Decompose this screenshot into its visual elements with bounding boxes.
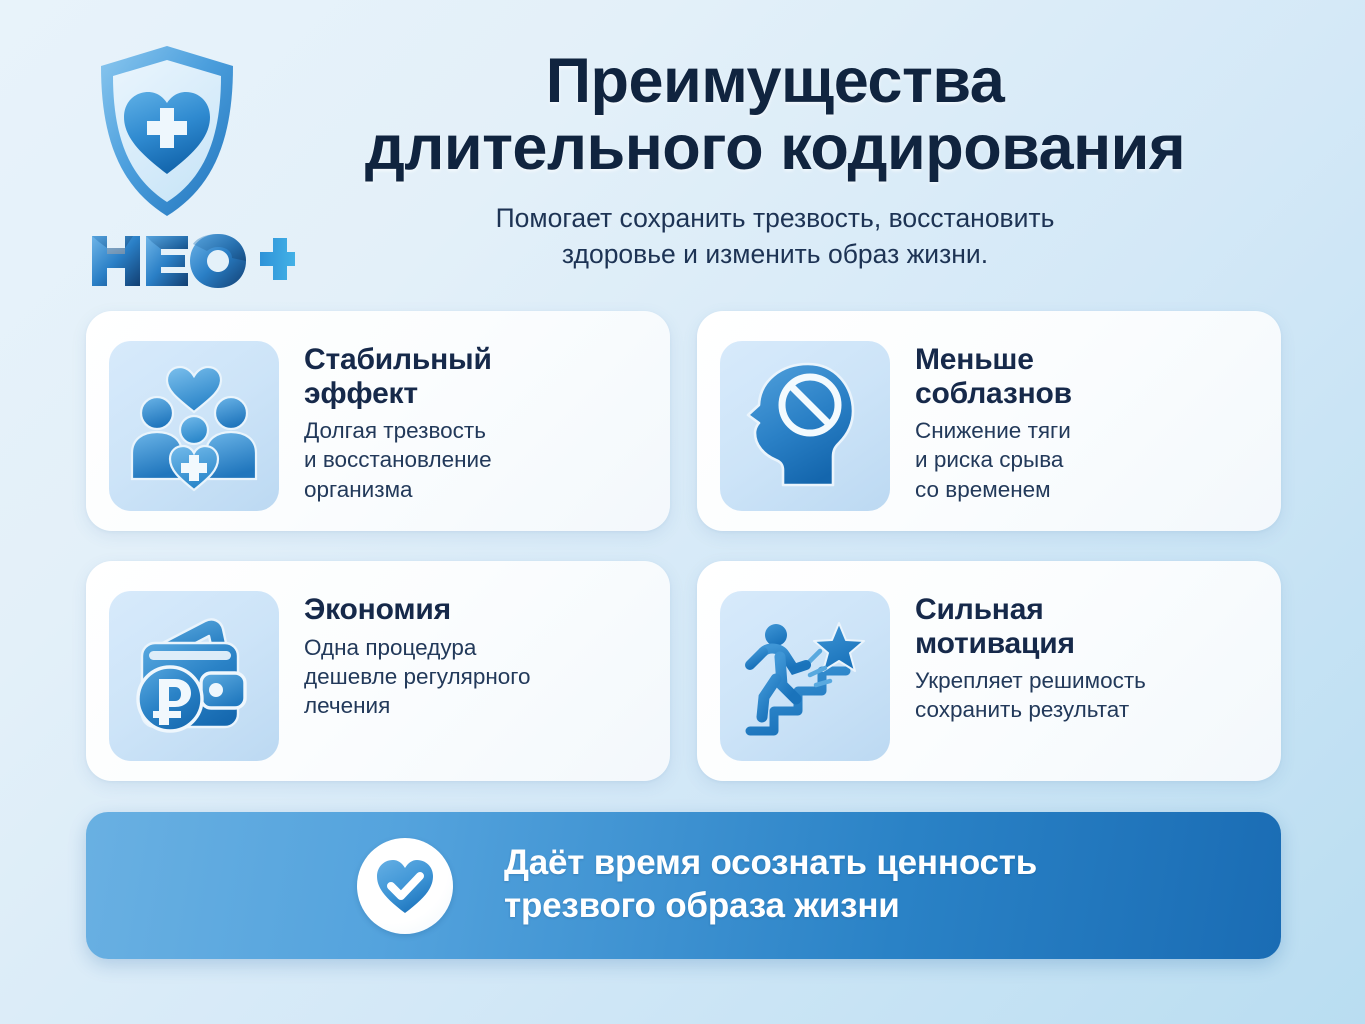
card-description: Снижение тяги и риска срыва со временем	[915, 416, 1072, 504]
brand-wordmark-icon	[90, 230, 295, 292]
card-desc-line-2: и риска срыва	[915, 445, 1072, 474]
wallet-ruble-coin-icon	[125, 607, 263, 745]
card-title: Экономия	[304, 593, 531, 627]
card-title-line-2: мотивация	[915, 627, 1146, 661]
banner-text-line-1: Даёт время осознать ценность	[504, 842, 1037, 885]
footer-banner: Даёт время осознать ценность трезвого об…	[86, 812, 1281, 959]
card-text: Сильная мотивация Укрепляет решимость со…	[890, 591, 1146, 725]
benefit-card-grid: Стабильный эффект Долгая трезвость и вос…	[86, 311, 1281, 781]
heart-check-circle-icon	[374, 855, 436, 917]
card-desc-line-1: Укрепляет решимость	[915, 666, 1146, 695]
person-stairs-star-icon	[736, 607, 874, 745]
icon-tile	[109, 341, 279, 511]
page-title-line-2: длительного кодирования	[280, 115, 1270, 182]
icon-tile	[720, 591, 890, 761]
card-text: Экономия Одна процедура дешевле регулярн…	[279, 591, 531, 720]
card-title-line-1: Меньше	[915, 343, 1072, 377]
banner-text-line-2: трезвого образа жизни	[504, 885, 1037, 928]
card-description: Долгая трезвость и восстановление органи…	[304, 416, 492, 504]
card-description: Одна процедура дешевле регулярного лечен…	[304, 633, 531, 721]
page-subtitle-line-2: здоровье и изменить образ жизни.	[280, 236, 1270, 272]
benefit-card-fewer-temptations[interactable]: Меньше соблазнов Снижение тяги и риска с…	[697, 311, 1281, 531]
card-title-line-1: Сильная	[915, 593, 1146, 627]
header-text: Преимущества длительного кодирования Пом…	[280, 48, 1270, 272]
benefit-card-savings[interactable]: Экономия Одна процедура дешевле регулярн…	[86, 561, 670, 781]
head-no-entry-icon	[736, 357, 874, 495]
card-title-line-1: Экономия	[304, 593, 531, 627]
card-desc-line-3: лечения	[304, 691, 531, 720]
card-title-line-2: соблазнов	[915, 377, 1072, 411]
brand-logo	[78, 42, 298, 292]
benefit-card-strong-motivation[interactable]: Сильная мотивация Укрепляет решимость со…	[697, 561, 1281, 781]
family-heart-plus-icon	[125, 357, 263, 495]
card-desc-line-2: и восстановление	[304, 445, 492, 474]
card-description: Укрепляет решимость сохранить результат	[915, 666, 1146, 725]
card-text: Стабильный эффект Долгая трезвость и вос…	[279, 341, 492, 504]
header: Преимущества длительного кодирования Пом…	[0, 0, 1365, 300]
card-desc-line-3: со временем	[915, 475, 1072, 504]
card-title-line-1: Стабильный	[304, 343, 492, 377]
card-title-line-2: эффект	[304, 377, 492, 411]
card-text: Меньше соблазнов Снижение тяги и риска с…	[890, 341, 1072, 504]
card-desc-line-1: Одна процедура	[304, 633, 531, 662]
icon-tile	[720, 341, 890, 511]
card-title: Сильная мотивация	[915, 593, 1146, 660]
card-desc-line-2: сохранить результат	[915, 695, 1146, 724]
card-desc-line-1: Долгая трезвость	[304, 416, 492, 445]
shield-heart-plus-icon	[92, 42, 242, 222]
card-desc-line-2: дешевле регулярного	[304, 662, 531, 691]
card-desc-line-1: Снижение тяги	[915, 416, 1072, 445]
card-desc-line-3: организма	[304, 475, 492, 504]
page-title-line-1: Преимущества	[546, 46, 1005, 116]
infographic-page: Преимущества длительного кодирования Пом…	[0, 0, 1365, 1024]
benefit-card-stable-effect[interactable]: Стабильный эффект Долгая трезвость и вос…	[86, 311, 670, 531]
page-subtitle-line-1: Помогает сохранить трезвость, восстанови…	[280, 200, 1270, 236]
banner-badge	[357, 838, 453, 934]
banner-text: Даёт время осознать ценность трезвого об…	[504, 842, 1037, 927]
page-subtitle: Помогает сохранить трезвость, восстанови…	[280, 200, 1270, 272]
icon-tile	[109, 591, 279, 761]
page-title: Преимущества длительного кодирования	[280, 48, 1270, 182]
card-title: Меньше соблазнов	[915, 343, 1072, 410]
card-title: Стабильный эффект	[304, 343, 492, 410]
